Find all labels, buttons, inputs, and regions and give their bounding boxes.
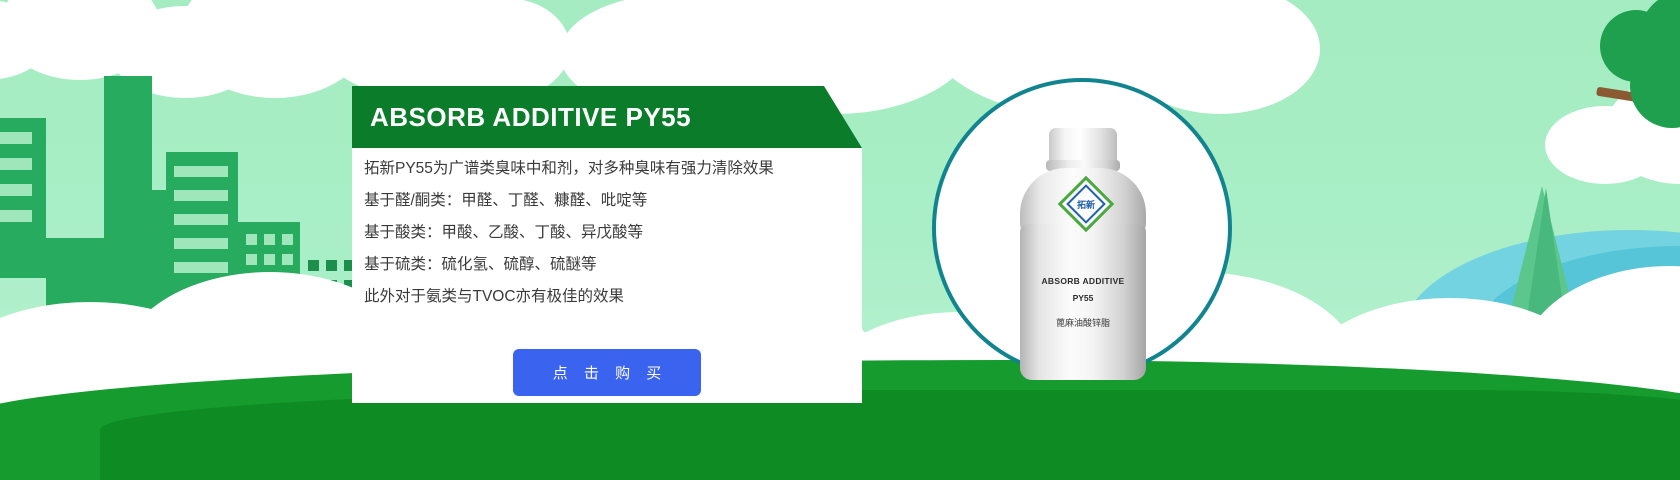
- description-line: 基于酸类：甲酸、乙酸、丁酸、异戊酸等: [364, 217, 862, 249]
- cta-container: 点 击 购 买: [352, 349, 862, 396]
- description-line: 拓新PY55为广谱类臭味中和剂，对多种臭味有强力清除效果: [364, 153, 862, 185]
- brand-logo-text: 拓新: [1066, 184, 1106, 224]
- title-bar: ABSORB ADDITIVE PY55: [352, 86, 862, 148]
- description-line: 基于醛/酮类：甲醛、丁醛、糠醛、吡啶等: [364, 185, 862, 217]
- bottle-cap: [1049, 128, 1117, 164]
- bottle-label-line2: PY55: [1020, 293, 1146, 303]
- bottle-label: ABSORB ADDITIVE PY55 蓖麻油酸锌脂: [1020, 276, 1146, 329]
- content-card: ABSORB ADDITIVE PY55 拓新PY55为广谱类臭味中和剂，对多种…: [352, 86, 862, 406]
- bottle-label-line3: 蓖麻油酸锌脂: [1020, 316, 1146, 329]
- tree-canopy-icon: [1600, 0, 1680, 142]
- description-line: 基于硫类：硫化氢、硫醇、硫醚等: [364, 249, 862, 281]
- page-title: ABSORB ADDITIVE PY55: [370, 102, 691, 133]
- ground-shadow: [100, 390, 1680, 480]
- bottle-label-line1: ABSORB ADDITIVE: [1020, 276, 1146, 286]
- buy-now-button[interactable]: 点 击 购 买: [513, 349, 702, 396]
- product-bottle-image: 拓新 ABSORB ADDITIVE PY55 蓖麻油酸锌脂: [1014, 128, 1152, 380]
- description-line: 此外对于氨类与TVOC亦有极佳的效果: [364, 281, 862, 313]
- promo-banner: 拓新 ABSORB ADDITIVE PY55 蓖麻油酸锌脂 ABSORB AD…: [0, 0, 1680, 480]
